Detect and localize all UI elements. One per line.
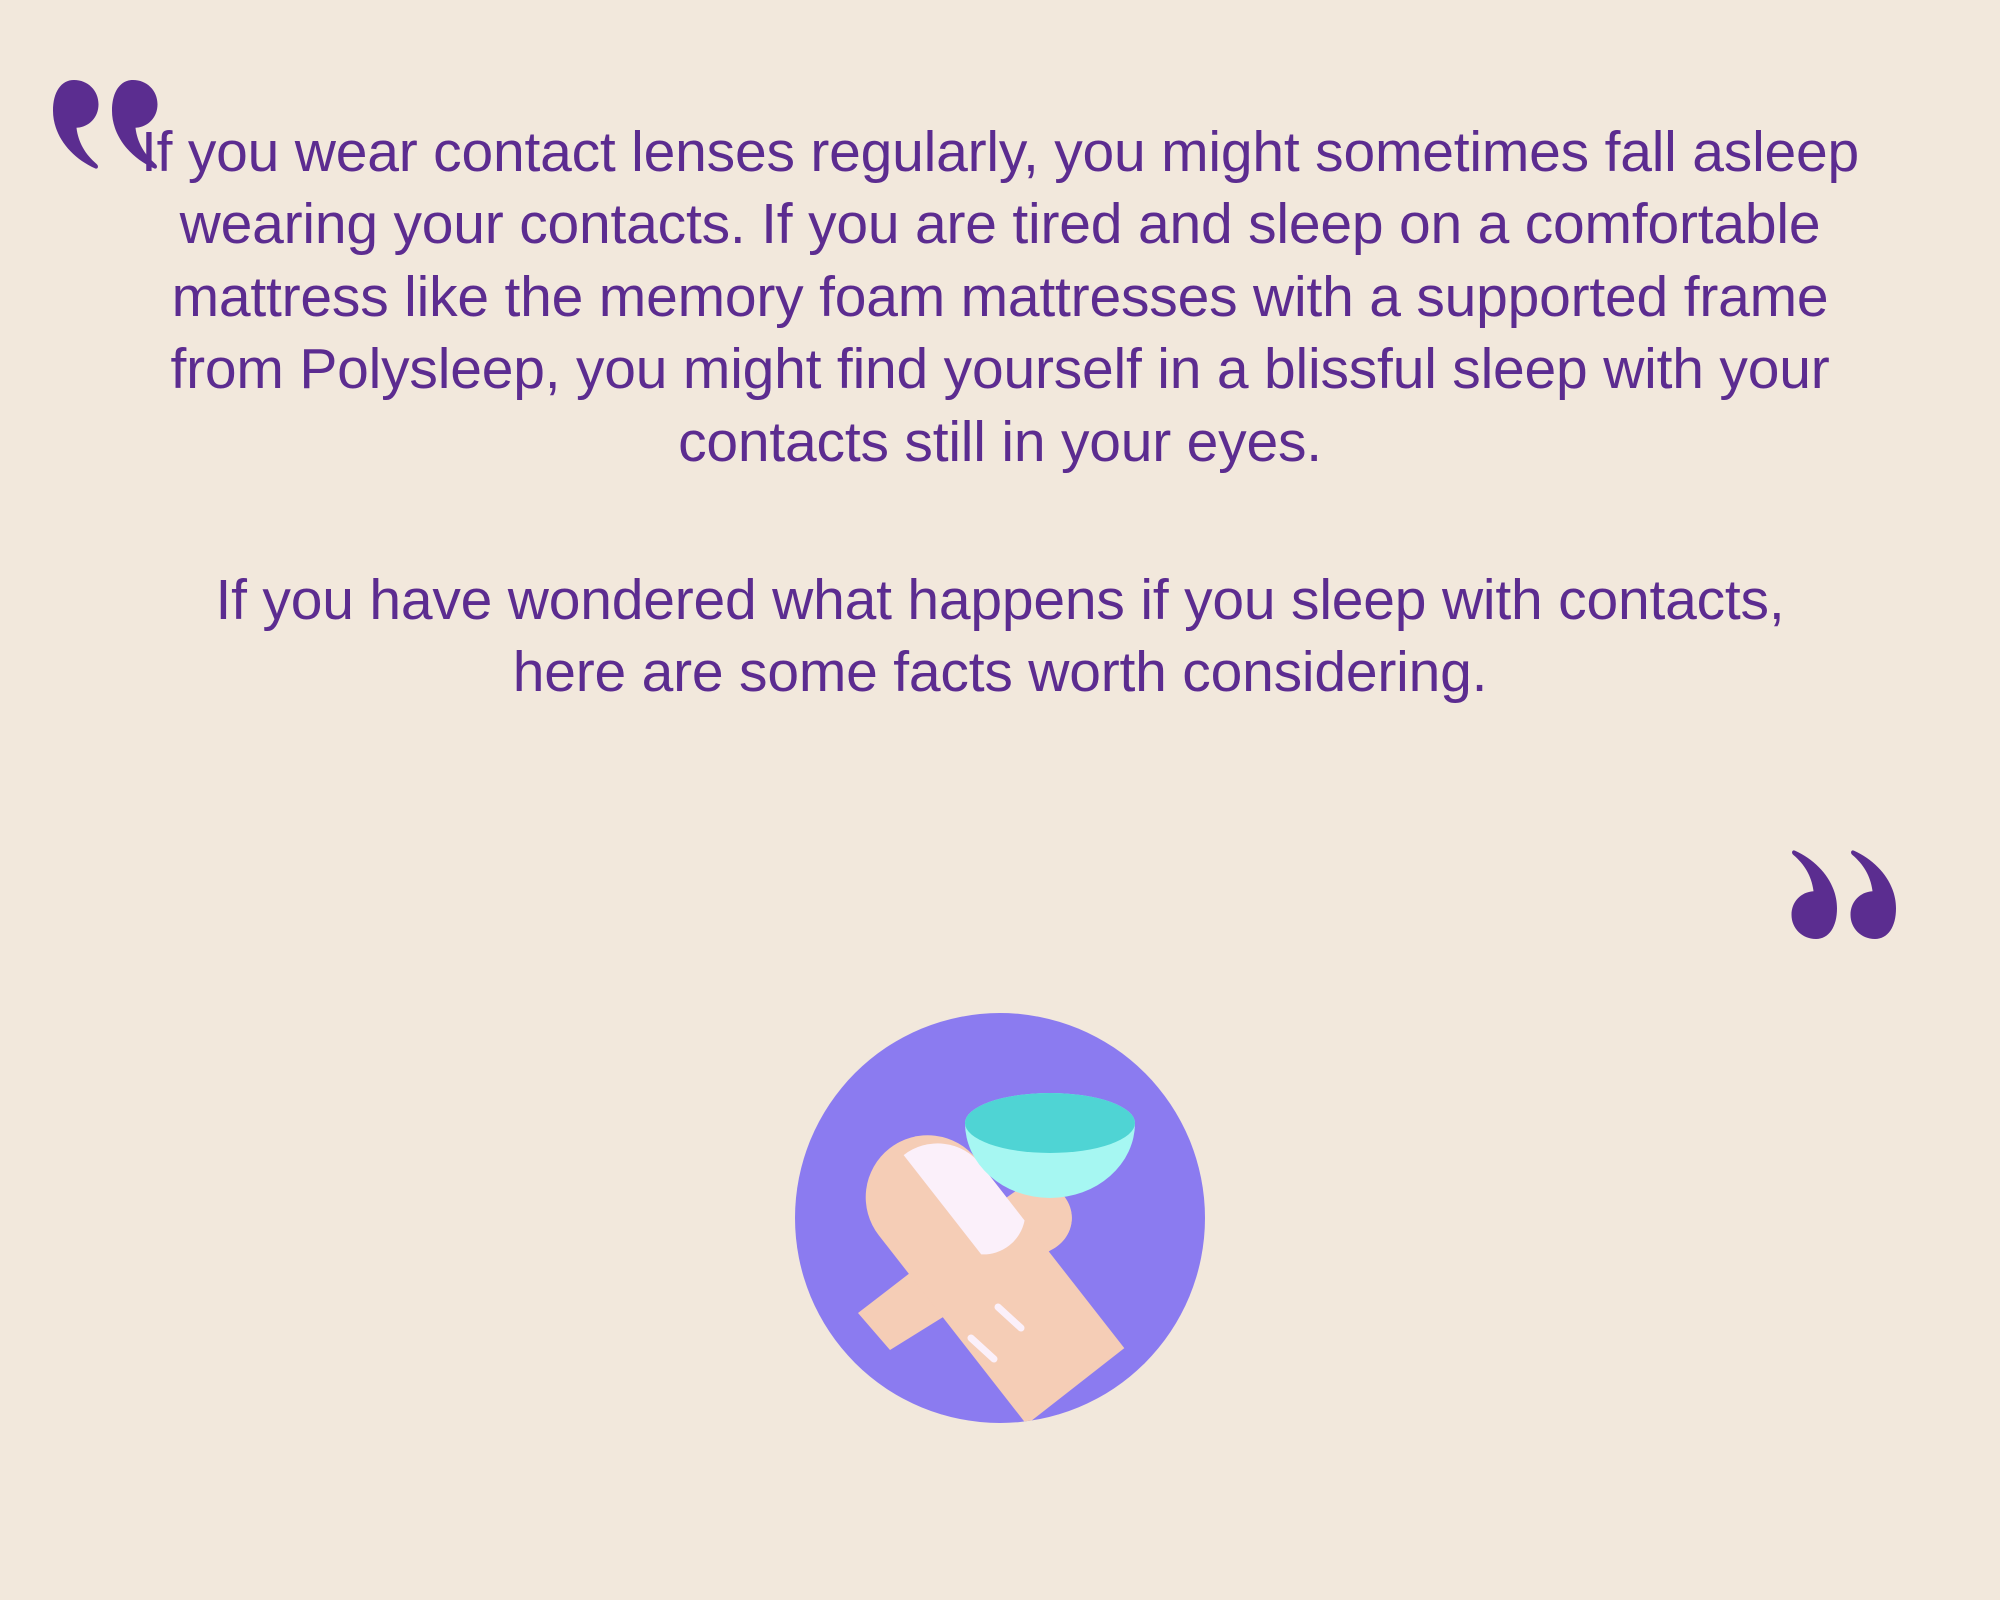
quote-paragraph-1: If you wear contact lenses regularly, yo… xyxy=(120,116,1880,478)
quote-paragraph-2: If you have wondered what happens if you… xyxy=(120,564,1880,709)
quote-close-icon xyxy=(1786,846,1901,941)
quote-text-block: If you wear contact lenses regularly, yo… xyxy=(120,116,1880,709)
quote-card: If you wear contact lenses regularly, yo… xyxy=(0,0,2000,1600)
paragraph-spacer xyxy=(120,478,1880,564)
contact-lens-on-fingertip-icon xyxy=(795,1013,1205,1423)
